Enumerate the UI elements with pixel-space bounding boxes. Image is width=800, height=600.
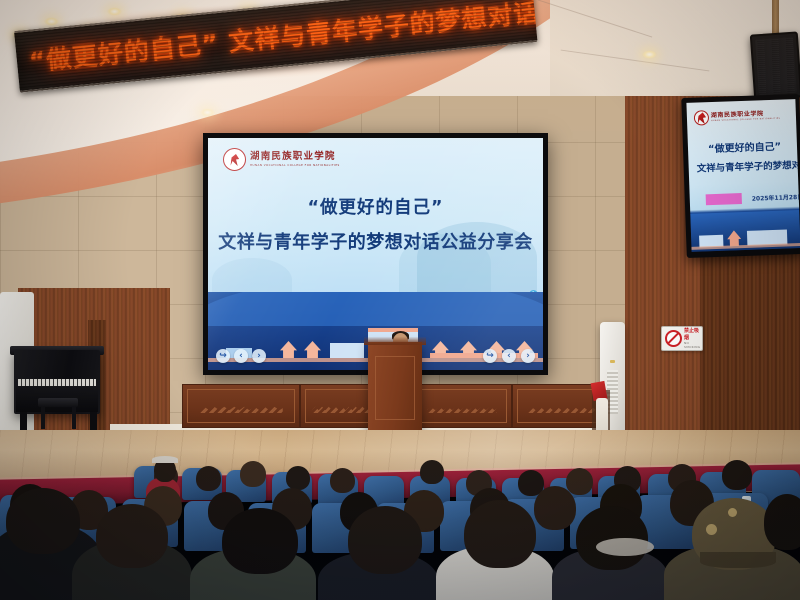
no-smoking-sign: 禁止吸烟 NO SMOKING xyxy=(661,326,703,351)
piano-keyboard xyxy=(18,379,96,386)
no-smoking-text-cn: 禁止吸烟 xyxy=(684,328,700,341)
no-smoking-text-en: NO SMOKING xyxy=(684,341,700,349)
side-tv-logo-en: HUNAN VOCATIONAL COLLEGE FOR NATIONALITI… xyxy=(711,118,780,122)
city-wave xyxy=(208,292,543,326)
nav-next-button[interactable]: › xyxy=(521,349,535,363)
audience-head-far-2 xyxy=(196,466,221,491)
audience-head-mid-9 xyxy=(534,486,576,530)
audience-head-front-4 xyxy=(348,506,422,574)
cap-badge-2 xyxy=(728,508,737,517)
wall-wood-far-right xyxy=(700,250,800,440)
side-tv-date: 2025年11月28日 xyxy=(752,192,800,203)
ceiling-downlight-8 xyxy=(642,50,657,59)
base-panel-inner-3 xyxy=(417,389,507,423)
side-tv-display[interactable]: 湖南民族职业学院 HUNAN VOCATIONAL COLLEGE FOR NA… xyxy=(681,94,800,258)
base-panel-inner-1 xyxy=(187,389,295,423)
side-tv-title-line2: 文祥与青年学子的梦想对话 xyxy=(696,157,800,175)
main-screen-content: 湖南民族职业学院 HUNAN VOCATIONAL COLLEGE FOR NA… xyxy=(208,138,543,370)
audience-head-front-2 xyxy=(96,504,168,568)
stage-base-panel-1 xyxy=(182,384,300,428)
screen-logo-en: HUNAN VOCATIONAL COLLEGE FOR NATIONALITI… xyxy=(250,164,340,167)
college-seal-icon xyxy=(223,148,246,171)
base-panel-inner-2 xyxy=(305,389,375,423)
ceiling-downlight-9 xyxy=(200,108,215,117)
audience-head-far-6 xyxy=(420,460,444,484)
pa-speaker-bracket xyxy=(772,0,779,34)
piano-bench xyxy=(38,398,78,407)
side-tv-title-line1: “做更好的自己” xyxy=(708,138,782,156)
fur-collar xyxy=(596,538,654,556)
nav-prev-button[interactable]: ‹ xyxy=(502,349,516,363)
screen-title-line1: “做更好的自己” xyxy=(208,194,543,219)
screen-logo: 湖南民族职业学院 HUNAN VOCATIONAL COLLEGE FOR NA… xyxy=(223,148,340,171)
audience-head-front-1 xyxy=(6,488,80,554)
nav-next-button-left[interactable]: › xyxy=(252,349,266,363)
audience-head-far-3 xyxy=(240,461,266,487)
audience-head-far-12 xyxy=(722,460,752,490)
pa-speaker-grill xyxy=(755,37,797,96)
cap-brim xyxy=(700,552,776,568)
audience-headband xyxy=(152,456,178,463)
audience-head-far-5 xyxy=(330,468,355,493)
piano-leg-left xyxy=(20,412,27,430)
piano-leg-right xyxy=(90,412,97,430)
audience-head-front-3 xyxy=(222,508,298,574)
audience-head-front-8 xyxy=(764,494,800,550)
lectern-top-ledge xyxy=(364,337,426,345)
screen-logo-cn: 湖南民族职业学院 xyxy=(250,152,340,162)
audience-head-far-4 xyxy=(286,466,310,490)
nav-share-button[interactable]: ↪ xyxy=(216,349,230,363)
cap-badge-1 xyxy=(706,524,717,535)
bench-leg-left xyxy=(41,407,45,429)
side-tv-logo-icon xyxy=(694,110,710,126)
city-building-center xyxy=(330,343,364,358)
photo-scene: “做更好的自己” 文祥与青年学子的梦想对话公益分享会 湖南民族职业学院 HUNA… xyxy=(0,0,800,600)
audience-head-far-9 xyxy=(566,468,593,495)
stage-base-panel-3 xyxy=(412,384,512,428)
audience-head-front-5 xyxy=(464,500,536,568)
side-tv-screen: 湖南民族职业学院 HUNAN VOCATIONAL COLLEGE FOR NA… xyxy=(686,99,800,252)
lectern-podium xyxy=(368,342,422,438)
bench-leg-right xyxy=(72,407,76,429)
nav-share-button-right[interactable]: ↪ xyxy=(483,349,497,363)
ceiling-downlight-2 xyxy=(107,7,122,16)
side-tv-city-illustration xyxy=(690,210,800,252)
ac-indicator-light xyxy=(610,360,615,363)
pa-speaker xyxy=(750,31,800,100)
nav-prev-button-left[interactable]: ‹ xyxy=(234,349,248,363)
no-smoking-icon xyxy=(665,330,682,347)
city-building-main-roof xyxy=(368,328,418,332)
ceiling-downlight-1 xyxy=(44,17,59,26)
side-tv-highlight-box xyxy=(706,193,742,205)
screen-title-line2: 文祥与青年学子的梦想对话公益分享会 xyxy=(208,228,543,254)
lectern-front-panel xyxy=(375,356,415,420)
